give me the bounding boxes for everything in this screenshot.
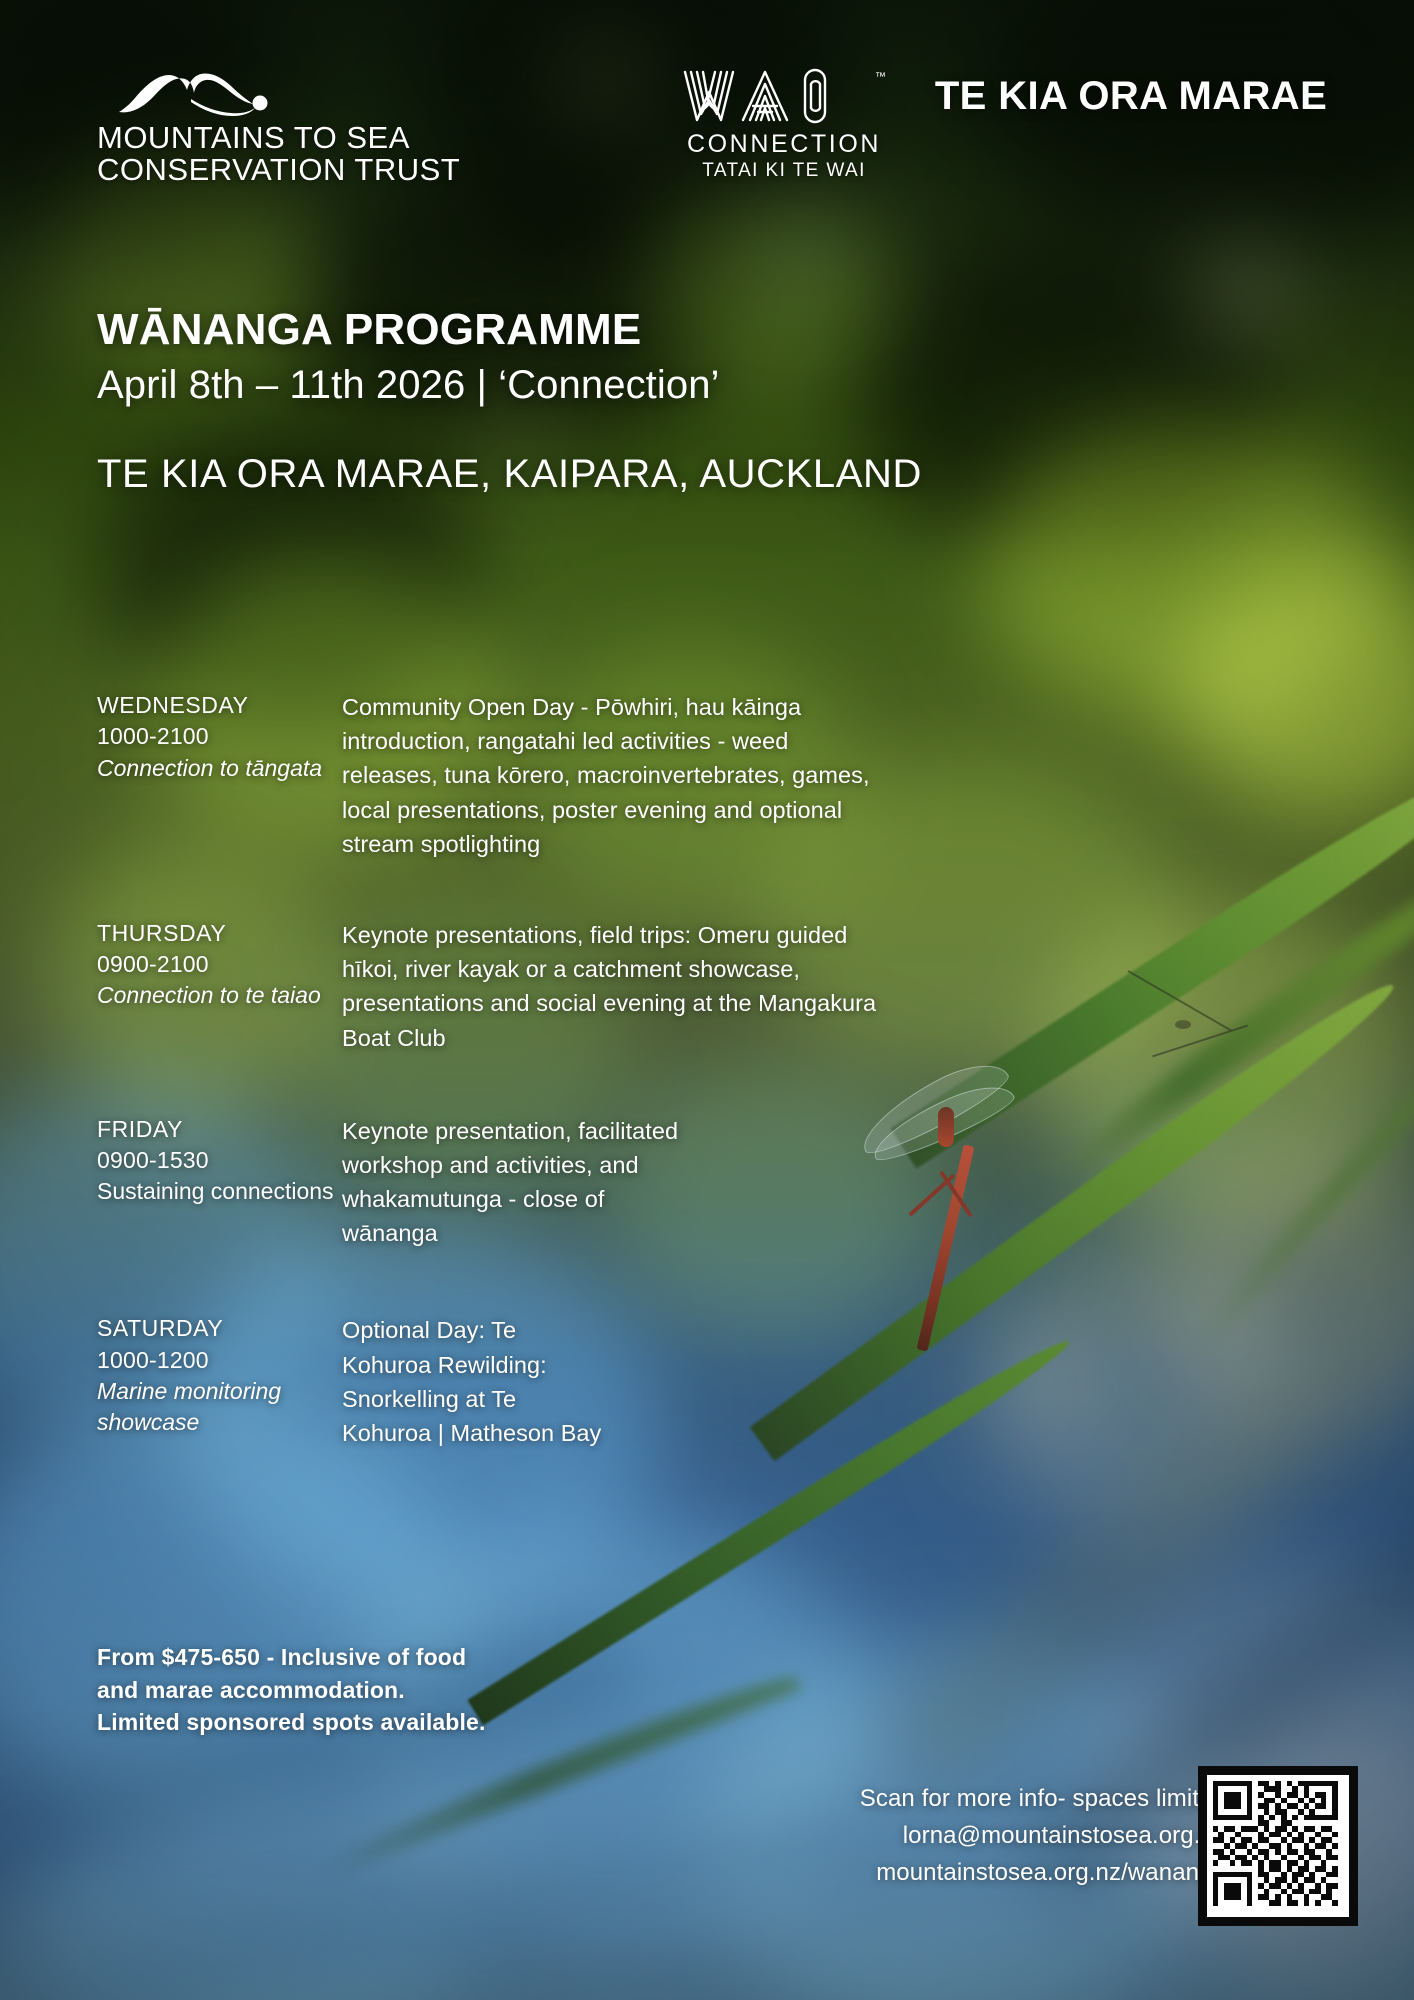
day-theme: Sustaining connections [97,1176,342,1207]
contact-email[interactable]: lorna@mountainstosea.org.nz [860,1817,1226,1854]
day-name: WEDNESDAY [97,690,342,721]
schedule-day-info: SATURDAY 1000-1200 Marine monitoring sho… [97,1313,342,1450]
contact-block: Scan for more info- spaces limited lorna… [860,1780,1226,1892]
day-name: FRIDAY [97,1114,342,1145]
qr-code[interactable] [1198,1766,1358,1926]
day-theme: Connection to tāngata [97,753,342,784]
day-theme: Marine monitoring showcase [97,1376,342,1439]
schedule-day-info: FRIDAY 0900-1530 Sustaining connections [97,1114,342,1251]
contact-url[interactable]: mountainstosea.org.nz/wananga [860,1854,1226,1891]
poster-canvas: MOUNTAINS TO SEA CONSERVATION TRUST [0,0,1414,2000]
day-name: SATURDAY [97,1313,342,1344]
schedule-row: THURSDAY 0900-2100 Connection to te taia… [97,918,887,1055]
day-name: THURSDAY [97,918,342,949]
venue-title: TE KIA ORA MARAE [900,70,1362,123]
schedule-row: SATURDAY 1000-1200 Marine monitoring sho… [97,1313,887,1450]
pricing-block: From $475-650 - Inclusive of food and ma… [97,1641,486,1739]
programme-dates: April 8th – 11th 2026 | ‘Connection’ [97,363,922,408]
pricing-line1: From $475-650 - Inclusive of food [97,1641,486,1674]
scan-prompt: Scan for more info- spaces limited [860,1780,1226,1817]
schedule-day-info: WEDNESDAY 1000-2100 Connection to tāngat… [97,690,342,861]
wai-connection-logo: ™ CONNECTION TATAI KI TE WAI [668,66,900,182]
wai-logo-sub1: CONNECTION [668,130,900,159]
mountains-to-sea-wave-logo [117,72,277,118]
schedule-day-description: Keynote presentation, facilitated worksh… [342,1114,694,1251]
schedule-day-description: Optional Day: Te Kohuroa Rewilding: Snor… [342,1313,604,1450]
schedule-list: WEDNESDAY 1000-2100 Connection to tāngat… [97,690,887,1450]
mountains-to-sea-logo: MOUNTAINS TO SEA CONSERVATION TRUST [97,72,557,186]
wai-logo-sub2: TATAI KI TE WAI [668,160,900,182]
day-description: Community Open Day - Pōwhiri, hau kāinga… [342,690,887,861]
logo-text-line1: MOUNTAINS TO SEA [97,122,557,154]
logo-text-line2: CONSERVATION TRUST [97,154,557,186]
day-description: Optional Day: Te Kohuroa Rewilding: Snor… [342,1313,604,1450]
pricing-line2: and marae accommodation. [97,1674,486,1707]
day-description: Keynote presentations, field trips: Omer… [342,918,882,1055]
programme-title: WĀNANGA PROGRAMME [97,307,922,353]
pricing-line3: Limited sponsored spots available. [97,1706,486,1739]
day-time: 1000-1200 [97,1345,342,1376]
schedule-row: WEDNESDAY 1000-2100 Connection to tāngat… [97,690,887,861]
schedule-row: FRIDAY 0900-1530 Sustaining connections … [97,1114,887,1251]
day-time: 0900-2100 [97,949,342,980]
day-time: 1000-2100 [97,721,342,752]
wai-concentric-wordmark: ™ [679,66,889,128]
day-description: Keynote presentation, facilitated worksh… [342,1114,694,1251]
day-theme: Connection to te taiao [97,980,342,1011]
schedule-day-info: THURSDAY 0900-2100 Connection to te taia… [97,918,342,1055]
schedule-day-description: Community Open Day - Pōwhiri, hau kāinga… [342,690,887,861]
title-block: WĀNANGA PROGRAMME April 8th – 11th 2026 … [97,307,922,497]
day-time: 0900-1530 [97,1145,342,1176]
schedule-day-description: Keynote presentations, field trips: Omer… [342,918,882,1055]
trademark-symbol: ™ [875,71,886,83]
poster-header: MOUNTAINS TO SEA CONSERVATION TRUST [0,58,1414,188]
programme-location: TE KIA ORA MARAE, KAIPARA, AUCKLAND [97,452,922,497]
qr-code-grid [1207,1775,1349,1917]
